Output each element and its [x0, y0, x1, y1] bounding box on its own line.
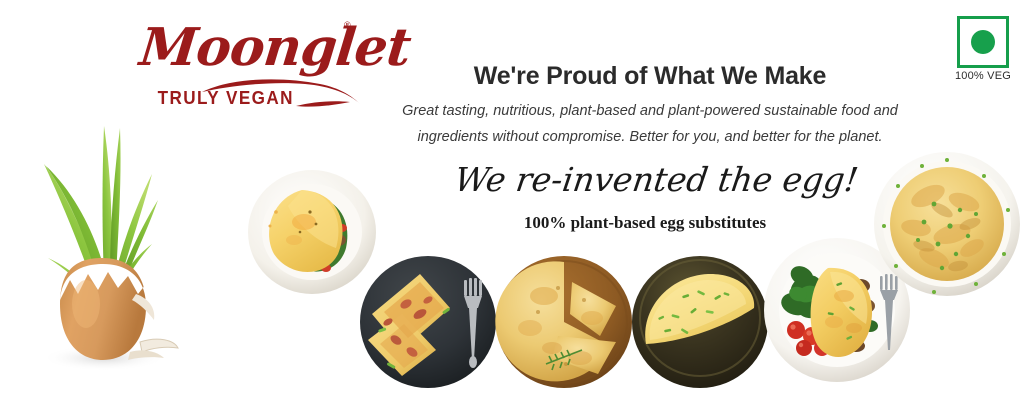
veg-dot-icon: [971, 30, 995, 54]
hero-subcopy-line-1: Great tasting, nutritious, plant-based a…: [352, 98, 948, 124]
brand-logo[interactable]: Moonglet ® TRULY VEGAN: [140, 14, 370, 110]
gallery-item-spanish-tortilla-wooden-board: [494, 252, 634, 392]
egg-sprout-image: [18, 108, 188, 383]
promo-banner: Moonglet ® TRULY VEGAN 100% VEG We're Pr…: [0, 0, 1024, 400]
hero-subcopy-line-2: ingredients without compromise. Better f…: [352, 124, 948, 150]
registered-trademark-icon: ®: [344, 20, 351, 30]
page-title: We're Proud of What We Make: [360, 62, 940, 91]
hero-tagline: 100% plant-based egg substitutes: [455, 213, 835, 233]
gallery-item-french-omelette-chives-dark-plate: [630, 252, 770, 392]
veg-certification-mark: 100% VEG: [952, 16, 1014, 82]
hero-subcopy: Great tasting, nutritious, plant-based a…: [352, 98, 948, 150]
gallery-item-folded-omelette-spinach-white-plate: [246, 166, 378, 296]
veg-mark-label: 100% VEG: [952, 70, 1014, 82]
logo-tagline: TRULY VEGAN: [158, 88, 294, 109]
veg-mark-icon: [957, 16, 1009, 68]
gallery-item-round-frittata-herbs-white-plate: [872, 148, 1022, 300]
hero-script-headline: We re-invented the egg!: [452, 160, 837, 199]
gallery-item-omelette-slices-slate-plate-fork: [358, 252, 498, 392]
